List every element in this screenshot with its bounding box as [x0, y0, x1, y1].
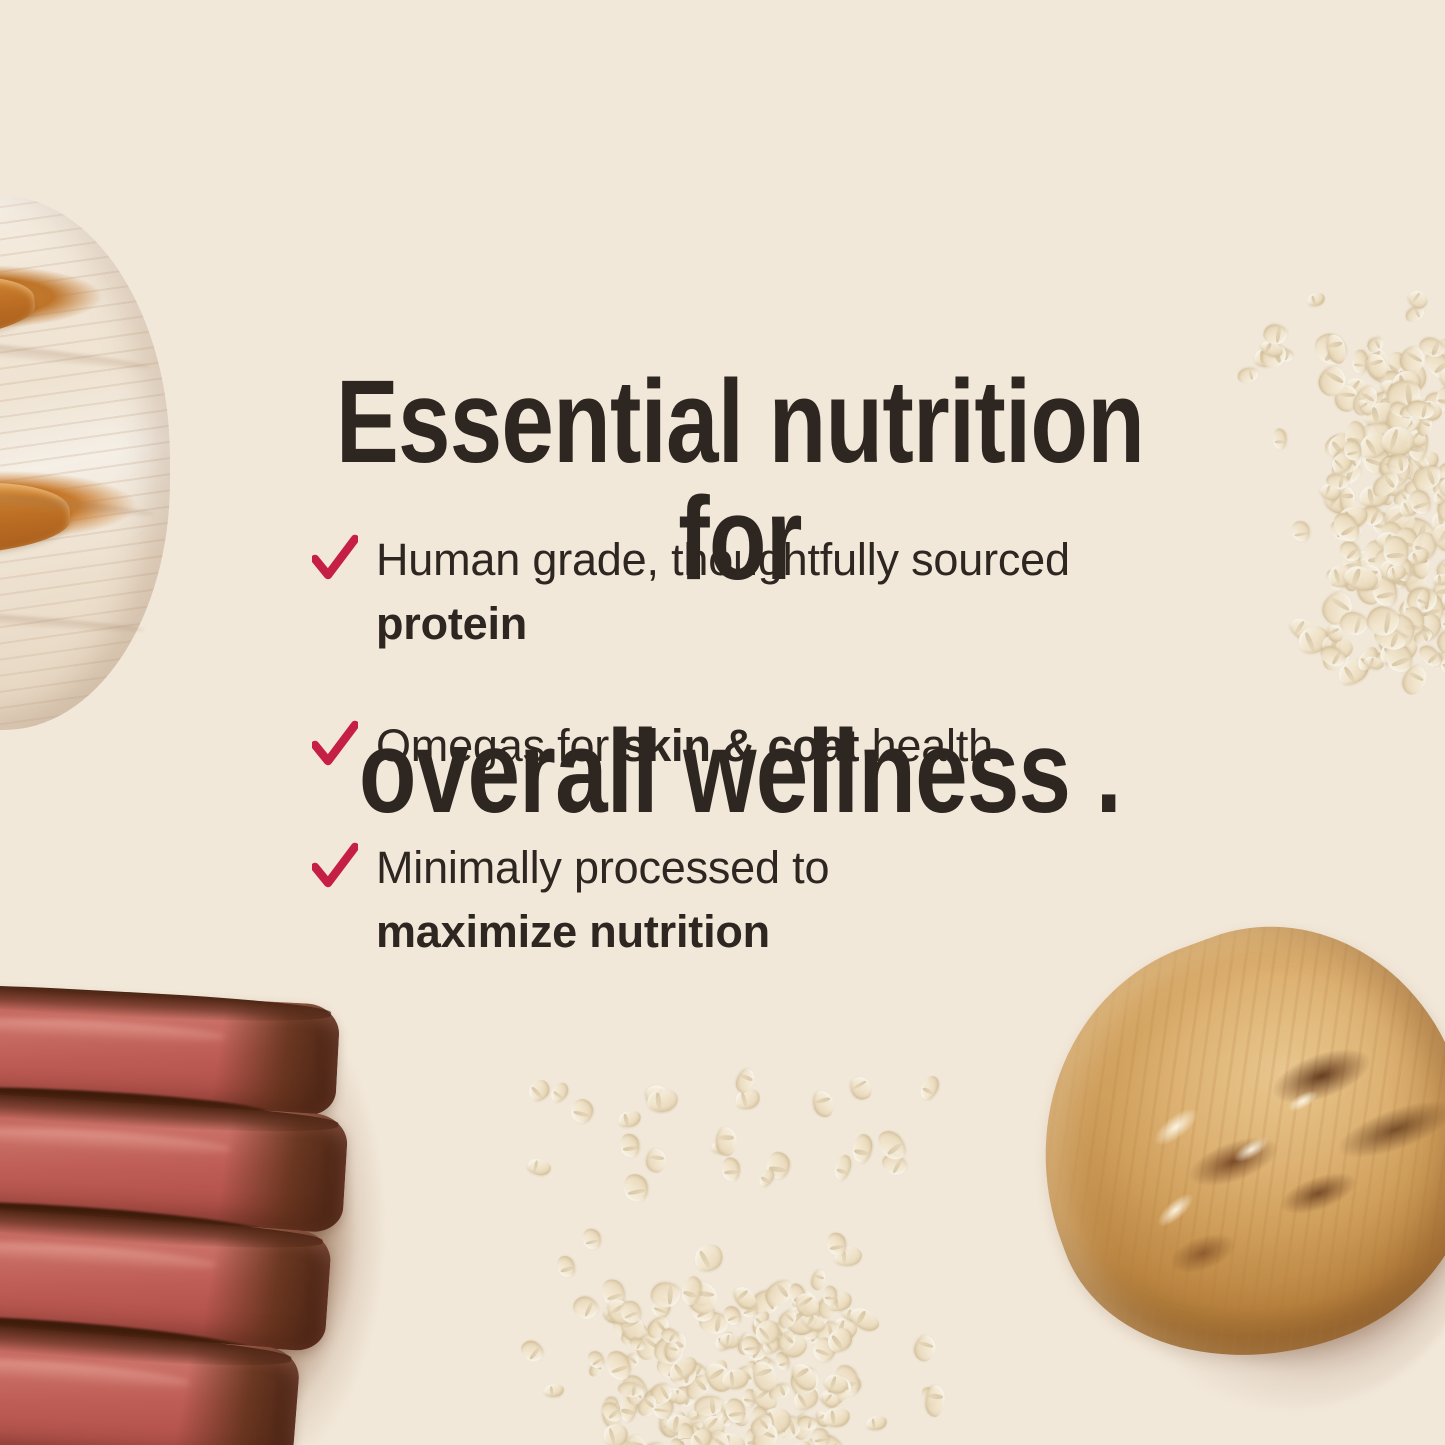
oat-flake	[715, 1127, 736, 1156]
oat-flake	[619, 1133, 641, 1159]
pork-slice-line	[0, 329, 150, 372]
oat-flake	[1441, 611, 1445, 631]
benefit-text-emphasis: maximize nutrition	[376, 906, 770, 957]
checkmark-icon	[312, 534, 358, 584]
oat-flake	[543, 1383, 564, 1398]
list-item: Minimally processed to maximize nutritio…	[312, 836, 1212, 964]
oat-flake	[569, 1097, 596, 1126]
oat-flake	[525, 1076, 554, 1105]
oat-flake	[847, 1073, 876, 1103]
oat-flake	[873, 1126, 910, 1165]
oat-flake	[584, 1348, 607, 1371]
oat-flake	[555, 1253, 578, 1279]
oat-flake	[621, 1172, 650, 1204]
oat-flake	[721, 1156, 741, 1181]
checkmark-icon	[312, 720, 358, 770]
list-item: Human grade, thoughtfully sourced protei…	[312, 528, 1212, 656]
oat-flake	[1290, 519, 1312, 544]
oat-flake	[1306, 291, 1327, 308]
chicken-gloss-highlight	[1285, 1086, 1321, 1115]
oat-flake	[547, 1080, 571, 1106]
oat-flake	[1273, 429, 1287, 450]
chicken-gloss-highlight	[1148, 1102, 1204, 1153]
rolled-oats-cluster-image	[1245, 298, 1445, 693]
oat-flake	[822, 1406, 851, 1428]
benefit-text: Omegas for skin & coat health	[376, 714, 993, 778]
oat-flake	[616, 1109, 642, 1130]
oat-flake	[651, 1281, 681, 1307]
oat-flake	[811, 1088, 837, 1119]
pork-crackling-strip	[0, 478, 72, 562]
chicken-gloss-highlight	[1230, 1132, 1272, 1167]
oat-flake	[850, 1132, 875, 1164]
list-item: Omegas for skin & coat health	[312, 714, 1212, 778]
benefit-text-tail: health	[859, 720, 993, 771]
benefit-text: Minimally processed to maximize nutritio…	[376, 836, 1016, 964]
oat-flake	[526, 1157, 553, 1178]
oat-flake	[810, 1427, 830, 1445]
pork-slice-line	[0, 605, 145, 635]
oat-flake	[1432, 573, 1445, 585]
oat-flake	[916, 1073, 942, 1103]
benefit-text-plain: Omegas for	[376, 720, 621, 771]
benefit-text-emphasis: protein	[376, 598, 527, 649]
oat-flake	[645, 1148, 667, 1174]
scattered-rolled-oats-image	[525, 1075, 935, 1445]
oat-flake	[865, 1414, 888, 1431]
oat-flake	[832, 1153, 855, 1182]
benefit-text: Human grade, thoughtfully sourced protei…	[376, 528, 1076, 656]
oat-flake	[517, 1337, 546, 1366]
oat-flake	[1236, 366, 1259, 385]
oat-flake	[911, 1333, 938, 1364]
benefit-text-plain: Human grade, thoughtfully sourced	[376, 534, 1070, 585]
benefit-text-plain: Minimally processed to	[376, 842, 829, 893]
checkmark-icon	[312, 842, 358, 892]
benefits-list: Human grade, thoughtfully sourced protei…	[312, 528, 1212, 963]
oat-flake	[690, 1240, 727, 1276]
benefit-text-emphasis: skin & coat	[621, 720, 859, 771]
sliced-beef-steak-image	[0, 972, 435, 1445]
oat-flake	[569, 1292, 601, 1322]
pork-crackling-strip	[0, 269, 37, 352]
marketing-banner: Essential nutrition for overall wellness…	[0, 0, 1445, 1445]
oat-flake	[580, 1226, 602, 1251]
chicken-gloss-highlight	[1152, 1188, 1198, 1232]
